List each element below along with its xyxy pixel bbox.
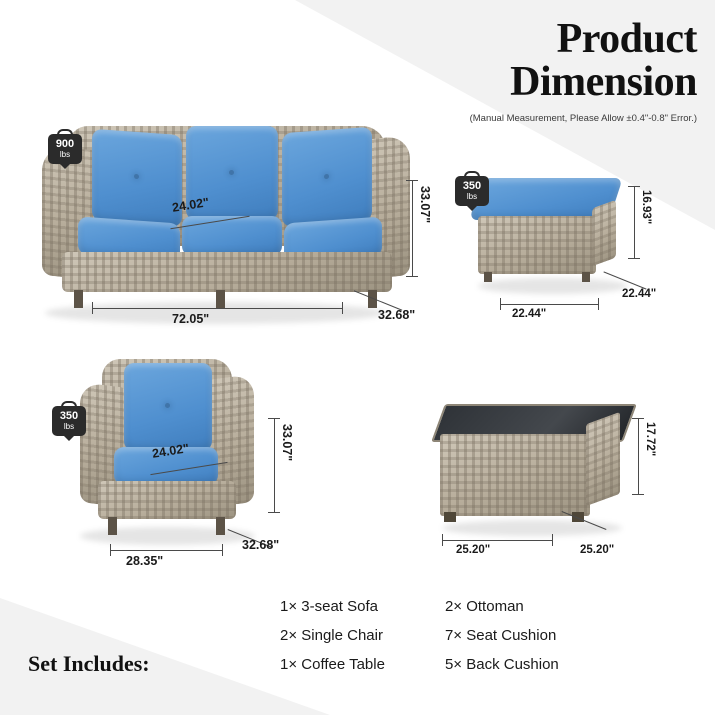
sofa-badge-unit: lbs (60, 151, 70, 159)
ottoman-height-line (634, 186, 635, 258)
table-width-tick-left (442, 534, 443, 546)
chair-width-tick-left (110, 544, 111, 556)
chair-height-tick-top (268, 418, 280, 419)
list-item: 1× Coffee Table (280, 656, 385, 673)
table-height-tick-top (632, 418, 644, 419)
chair-badge-unit: lbs (64, 423, 74, 431)
list-item: 5× Back Cushion (445, 656, 559, 673)
table-width-label: 25.20" (456, 544, 490, 556)
table-body-front (440, 434, 590, 516)
sofa-leg-left (74, 290, 83, 308)
ottoman-height-tick-bottom (628, 258, 640, 259)
coffee-table-illustration (432, 398, 642, 543)
ottoman-side (592, 200, 616, 267)
sofa-weight-badge: 900 lbs (48, 134, 82, 164)
sofa-width-label: 72.05" (172, 312, 209, 326)
sofa-depth-label: 32.68" (378, 308, 415, 322)
sofa-seat-cushion-2 (182, 216, 282, 256)
set-includes-column-left: 1× 3-seat Sofa 2× Single Chair 1× Coffee… (280, 598, 385, 685)
ottoman-height-label: 16.93" (640, 190, 652, 224)
list-item: 7× Seat Cushion (445, 627, 559, 644)
set-includes-title: Set Includes: (28, 651, 150, 677)
chair-depth-label: 32.68" (242, 538, 279, 552)
badge-hook-icon (57, 129, 73, 138)
chair-width-label: 28.35" (126, 554, 163, 568)
chair-height-tick-bottom (268, 512, 280, 513)
table-height-line (638, 418, 639, 494)
page-header: Product Dimension (Manual Measurement, P… (367, 18, 697, 124)
table-body-side (586, 412, 620, 506)
sofa-back-cushion-1 (92, 129, 182, 227)
page-title-line1: Product (557, 16, 697, 62)
badge-hook-icon (61, 401, 77, 410)
page-title: Product Dimension (367, 18, 697, 104)
chair-badge-number: 350 (60, 411, 78, 422)
chair-height-label: 33.07" (280, 424, 294, 461)
ottoman-width-tick-right (598, 298, 599, 310)
badge-hook-icon (464, 171, 480, 180)
chair-width-tick-right (222, 544, 223, 556)
chair-weight-badge: 350 lbs (52, 406, 86, 436)
table-depth-label: 25.20" (580, 544, 614, 556)
chair-width-line (110, 550, 222, 551)
sofa-base (62, 252, 392, 292)
table-leg-left (444, 512, 456, 522)
ottoman-width-tick-left (500, 298, 501, 310)
ottoman-leg-left (484, 272, 492, 282)
list-item: 2× Single Chair (280, 627, 385, 644)
sofa-illustration (30, 120, 410, 335)
sofa-back-cushion-3 (282, 127, 372, 227)
list-item: 1× 3-seat Sofa (280, 598, 385, 615)
ottoman-badge-unit: lbs (467, 193, 477, 201)
sofa-width-line (92, 308, 342, 309)
ottoman-width-line (500, 304, 598, 305)
set-includes-column-right: 2× Ottoman 7× Seat Cushion 5× Back Cushi… (445, 598, 559, 685)
table-height-tick-bottom (632, 494, 644, 495)
sofa-height-label: 33.07" (418, 186, 432, 223)
set-includes-lists: 1× 3-seat Sofa 2× Single Chair 1× Coffee… (280, 598, 559, 685)
sofa-shadow (45, 302, 385, 324)
chair-leg-left (108, 517, 117, 535)
ottoman-weight-badge: 350 lbs (455, 176, 489, 206)
sofa-badge-number: 900 (56, 139, 74, 150)
chair-base (98, 481, 236, 519)
sofa-width-tick-left (92, 302, 93, 314)
ottoman-body (478, 216, 596, 274)
ottoman-depth-label: 22.44" (622, 288, 656, 300)
table-height-label: 17.72" (644, 422, 656, 456)
sofa-height-tick-bottom (406, 276, 418, 277)
table-shadow (442, 520, 622, 536)
sofa-height-line (412, 180, 413, 276)
sofa-width-tick-right (342, 302, 343, 314)
chair-height-line (274, 418, 275, 512)
table-width-tick-right (552, 534, 553, 546)
ottoman-illustration (470, 170, 645, 295)
ottoman-leg-right (582, 272, 590, 282)
page-title-line2: Dimension (510, 59, 697, 105)
measurement-note: (Manual Measurement, Please Allow ±0.4"-… (367, 113, 697, 124)
list-item: 2× Ottoman (445, 598, 559, 615)
ottoman-width-label: 22.44" (512, 308, 546, 320)
sofa-leg-mid (216, 290, 225, 308)
table-width-line (442, 540, 552, 541)
chair-back-cushion (124, 363, 212, 451)
ottoman-badge-number: 350 (463, 181, 481, 192)
sofa-height-tick-top (406, 180, 418, 181)
chair-leg-right (216, 517, 225, 535)
ottoman-height-tick-top (628, 186, 640, 187)
ottoman-shadow (478, 278, 628, 294)
